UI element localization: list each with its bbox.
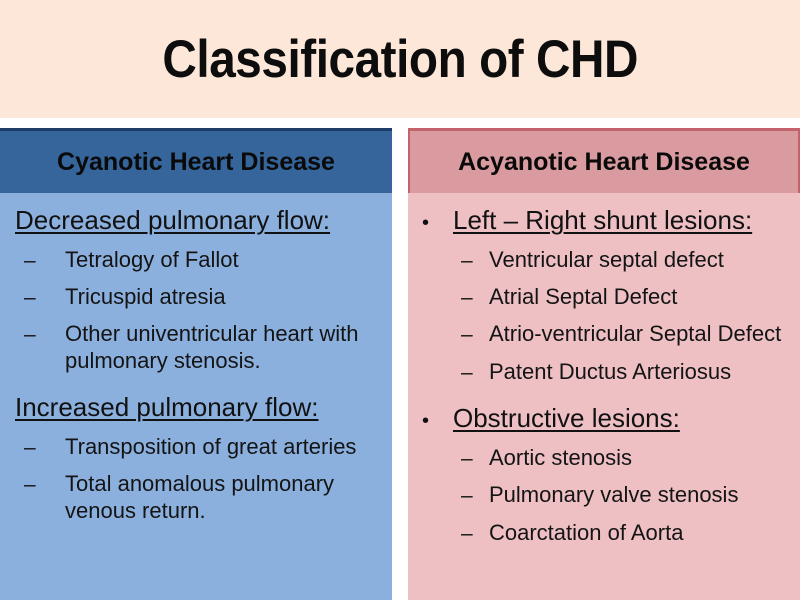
dash-icon: – xyxy=(461,248,489,273)
panel-header-label: Cyanotic Heart Disease xyxy=(57,150,335,175)
group-decreased-pulmonary-flow: Decreased pulmonary flow: – Tetralogy of… xyxy=(0,201,392,374)
list-item: – Total anomalous pulmonary venous retur… xyxy=(0,471,392,524)
list-item-label: Atrio-ventricular Septal Defect xyxy=(489,321,790,347)
dash-icon: – xyxy=(461,322,489,347)
dash-icon: – xyxy=(461,360,489,385)
panel-header-cyanotic: Cyanotic Heart Disease xyxy=(0,128,392,193)
list-item: – Patent Ductus Arteriosus xyxy=(408,359,800,385)
list-item-label: Aortic stenosis xyxy=(489,445,790,471)
dash-icon: – xyxy=(461,446,489,471)
list-item-label: Other univentricular heart with pulmonar… xyxy=(65,321,392,374)
list-item-label: Transposition of great arteries xyxy=(65,434,392,460)
list-item-label: Ventricular septal defect xyxy=(489,247,790,273)
list-item-label: Pulmonary valve stenosis xyxy=(489,482,790,508)
group-obstructive-lesions: • Obstructive lesions: – Aortic stenosis… xyxy=(408,399,800,546)
title-band: Classification of CHD xyxy=(0,0,800,118)
dash-icon: – xyxy=(461,483,489,508)
group-heading-label: Obstructive lesions: xyxy=(453,403,680,434)
page-title: Classification of CHD xyxy=(162,33,638,86)
list-item-label: Atrial Septal Defect xyxy=(489,284,790,310)
bullet-icon: • xyxy=(422,411,453,431)
list-item: – Atrial Septal Defect xyxy=(408,284,800,310)
dash-icon: – xyxy=(24,322,65,347)
dash-icon: – xyxy=(24,435,65,460)
list-item: – Pulmonary valve stenosis xyxy=(408,482,800,508)
dash-icon: – xyxy=(461,521,489,546)
group-heading: Decreased pulmonary flow: xyxy=(0,201,392,236)
panel-header-acyanotic: Acyanotic Heart Disease xyxy=(408,128,800,193)
panel-header-label: Acyanotic Heart Disease xyxy=(458,150,750,175)
group-heading-label: Left – Right shunt lesions: xyxy=(453,205,752,236)
dash-icon: – xyxy=(24,472,65,497)
list-item-label: Total anomalous pulmonary venous return. xyxy=(65,471,392,524)
list-item-label: Coarctation of Aorta xyxy=(489,520,790,546)
panel-acyanotic: Acyanotic Heart Disease • Left – Right s… xyxy=(408,128,800,600)
list-item-label: Tricuspid atresia xyxy=(65,284,392,310)
group-heading: • Obstructive lesions: xyxy=(408,399,800,434)
dash-icon: – xyxy=(24,285,65,310)
list-item-label: Patent Ductus Arteriosus xyxy=(489,359,790,385)
dash-icon: – xyxy=(461,285,489,310)
list-item: – Tricuspid atresia xyxy=(0,284,392,310)
group-heading: • Left – Right shunt lesions: xyxy=(408,201,800,236)
list-item-label: Tetralogy of Fallot xyxy=(65,247,392,273)
list-item: – Tetralogy of Fallot xyxy=(0,247,392,273)
panel-body-acyanotic: • Left – Right shunt lesions: – Ventricu… xyxy=(408,193,800,546)
group-heading-label: Decreased pulmonary flow: xyxy=(15,205,330,236)
list-item: – Other univentricular heart with pulmon… xyxy=(0,321,392,374)
group-left-right-shunt-lesions: • Left – Right shunt lesions: – Ventricu… xyxy=(408,201,800,385)
dash-icon: – xyxy=(24,248,65,273)
group-heading-label: Increased pulmonary flow: xyxy=(15,392,318,423)
list-item: – Atrio-ventricular Septal Defect xyxy=(408,321,800,347)
list-item: – Ventricular septal defect xyxy=(408,247,800,273)
list-item: – Coarctation of Aorta xyxy=(408,520,800,546)
panel-body-cyanotic: Decreased pulmonary flow: – Tetralogy of… xyxy=(0,193,392,524)
bullet-icon: • xyxy=(422,213,453,233)
panel-cyanotic: Cyanotic Heart Disease Decreased pulmona… xyxy=(0,128,392,600)
list-item: – Transposition of great arteries xyxy=(0,434,392,460)
group-increased-pulmonary-flow: Increased pulmonary flow: – Transpositio… xyxy=(0,388,392,524)
group-heading: Increased pulmonary flow: xyxy=(0,388,392,423)
list-item: – Aortic stenosis xyxy=(408,445,800,471)
